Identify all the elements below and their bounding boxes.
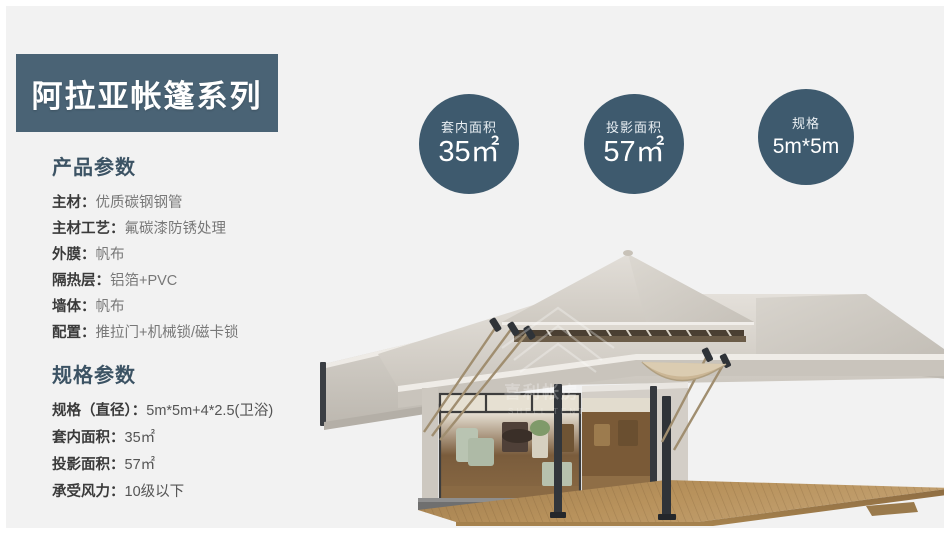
- product-params-heading: 产品参数: [52, 156, 372, 180]
- spec-value: 10级以下: [125, 484, 185, 500]
- badge-dimensions: 规格 5m*5m: [758, 89, 854, 185]
- spec-value: 5m*5m+4*2.5(卫浴): [146, 403, 273, 419]
- spec-value: 优质碳钢钢管: [96, 195, 183, 211]
- spec-label: 投影面积：: [52, 457, 125, 473]
- spec-label: 主材工艺：: [52, 221, 125, 237]
- watermark-text: 喜利帐房: [504, 382, 580, 402]
- page-title: 阿拉亚帐篷系列: [32, 71, 263, 116]
- spec-value: 57㎡: [125, 457, 156, 473]
- badge-value: 57㎡: [603, 138, 664, 167]
- badge-interior-area: 套内面积 35㎡: [419, 94, 519, 194]
- spec-label: 主材：: [52, 195, 96, 211]
- badge-label: 规格: [792, 117, 820, 130]
- badge-value: 35㎡: [438, 138, 499, 167]
- badge-value: 5m*5m: [773, 136, 840, 157]
- watermark-subtext: SHELL TENT: [508, 407, 586, 416]
- badge-projected-area: 投影面积 57㎡: [584, 94, 684, 194]
- spec-value: 帆布: [96, 299, 125, 315]
- spec-label: 承受风力：: [52, 484, 125, 500]
- spec-value: 推拉门+机械锁/磁卡锁: [96, 325, 239, 341]
- spec-label: 配置：: [52, 325, 96, 341]
- spec-label: 套内面积：: [52, 430, 125, 446]
- spec-label: 墙体：: [52, 299, 96, 315]
- spec-label: 隔热层：: [52, 273, 110, 289]
- badge-label: 投影面积: [606, 121, 662, 134]
- badge-label: 套内面积: [441, 121, 497, 134]
- spec-value: 铝箔+PVC: [110, 273, 177, 289]
- spec-row: 主材：优质碳钢钢管: [52, 190, 372, 216]
- series-title-banner: 阿拉亚帐篷系列: [16, 54, 278, 132]
- spec-value: 35㎡: [125, 430, 156, 446]
- content-canvas: 阿拉亚帐篷系列 产品参数 主材：优质碳钢钢管 主材工艺：氟碳漆防锈处理 外膜：帆…: [6, 6, 944, 528]
- page-root: 阿拉亚帐篷系列 产品参数 主材：优质碳钢钢管 主材工艺：氟碳漆防锈处理 外膜：帆…: [0, 0, 950, 534]
- spec-value: 氟碳漆防锈处理: [125, 221, 227, 237]
- spec-label: 外膜：: [52, 247, 96, 263]
- spec-label: 规格（直径）：: [52, 403, 146, 419]
- spec-value: 帆布: [96, 247, 125, 263]
- tent-illustration: 喜利帐房 SHELL TENT: [306, 236, 944, 526]
